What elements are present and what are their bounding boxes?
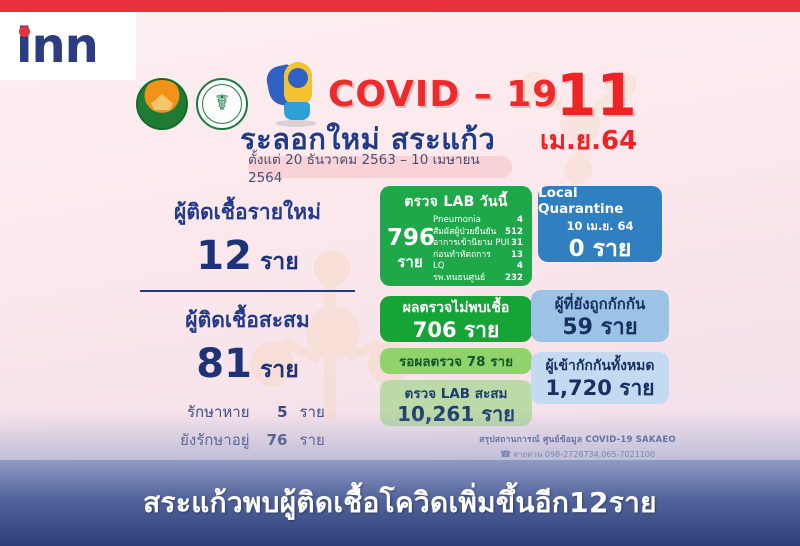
cumulative-cases-value: 81ราย	[140, 341, 355, 388]
province-seal-icon	[136, 78, 188, 130]
red-dot-icon	[19, 26, 30, 37]
local-quarantine-title: Local Quarantine	[538, 185, 662, 217]
still-quarantined-value: 59 ราย	[562, 316, 637, 340]
negative-results-card: ผลตรวจไม่พบเชื้อ 706 ราย	[380, 296, 532, 342]
lab-item-value: 4	[517, 215, 523, 227]
local-quarantine-card: Local Quarantine 10 เม.ย. 64 0 ราย	[538, 186, 662, 262]
lab-item-label: อาการเข้านิยาม PUI	[433, 238, 509, 250]
total-quarantined-card: ผู้เข้ากักกันทั้งหมด 1,720 ราย	[531, 352, 669, 404]
lab-item-value: 512	[505, 227, 523, 239]
covid-title: COVID – 19	[328, 74, 558, 115]
new-cases-label: ผู้ติดเชื้อรายใหม่	[140, 196, 355, 229]
lab-tests-today-title: ตรวจ LAB วันนี้	[387, 191, 525, 213]
negative-results-value: 706 ราย	[413, 319, 500, 341]
lab-item-value: 13	[511, 250, 523, 262]
list-item: ก่อนทำหัตถการ 13	[433, 250, 525, 262]
list-item: รพ.ทนธนศูนย์ 232	[433, 273, 525, 285]
lab-item-value: 31	[511, 238, 523, 250]
lab-tests-today-card: ตรวจ LAB วันนี้ 796 ราย Pneumonia 4 สัมผ…	[380, 186, 532, 286]
date-range-badge: ตั้งแต่ 20 ธันวาคม 2563 – 10 เมษายน 2564	[248, 156, 512, 178]
lab-item-label: รพ.ทนธนศูนย์	[433, 273, 485, 285]
lab-item-label: สัมผัสผู้ป่วยยืนยัน	[433, 227, 496, 239]
new-cases-unit: ราย	[260, 249, 299, 275]
lab-item-label: Pneumonia	[433, 215, 481, 227]
cumulative-cases-unit: ราย	[260, 357, 299, 383]
lab-total-number: 796	[387, 226, 433, 250]
report-month: เม.ย.64	[540, 128, 637, 154]
list-item: อาการเข้านิยาม PUI 31	[433, 238, 525, 250]
lab-item-value: 4	[517, 261, 523, 273]
lab-tests-today-total: 796 ราย	[387, 226, 433, 274]
new-cases-value: 12ราย	[140, 233, 355, 280]
still-quarantined-label: ผู้ที่ยังถูกกักกัน	[555, 292, 645, 316]
lab-breakdown-list: Pneumonia 4 สัมผัสผู้ป่วยยืนยัน 512 อากา…	[433, 215, 525, 285]
caption-bar: สระแก้วพบผู้ติดเชื้อโควิดเพิ่มขึ้นอีก12ร…	[0, 460, 800, 546]
still-quarantined-card: ผู้ที่ยังถูกกักกัน 59 ราย	[531, 290, 669, 342]
report-day: 11	[556, 66, 637, 124]
inn-logo-plate: inn	[0, 12, 136, 80]
stats-divider	[140, 290, 355, 292]
cumulative-cases-number: 81	[196, 341, 252, 387]
local-quarantine-date: 10 เม.ย. 64	[566, 218, 633, 236]
inn-logo-text: inn	[16, 18, 98, 74]
new-cases-number: 12	[196, 233, 252, 279]
local-quarantine-value: 0 ราย	[569, 237, 632, 262]
caption-text: สระแก้วพบผู้ติดเชื้อโควิดเพิ่มขึ้นอีก12ร…	[143, 481, 657, 525]
total-quarantined-value: 1,720 ราย	[545, 377, 654, 400]
top-red-bar	[0, 0, 800, 12]
list-item: สัมผัสผู้ป่วยยืนยัน 512	[433, 227, 525, 239]
cumulative-cases-label: ผู้ติดเชื้อสะสม	[140, 304, 355, 337]
lab-item-label: ก่อนทำหัตถการ	[433, 250, 491, 262]
cumulative-lab-label: ตรวจ LAB สะสม	[405, 382, 508, 404]
negative-results-label: ผลตรวจไม่พบเชื้อ	[403, 297, 510, 319]
lab-item-value: 232	[505, 273, 523, 285]
lab-total-unit: ราย	[387, 250, 433, 274]
pending-results-card: รอผลตรวจ 78 ราย	[380, 348, 532, 374]
fade-strip	[0, 410, 800, 460]
list-item: LQ 4	[433, 261, 525, 273]
infographic-page: inn ☤ COVID – 19 ระลอกใหม่ สระ	[0, 0, 800, 546]
lab-item-label: LQ	[433, 261, 445, 273]
list-item: Pneumonia 4	[433, 215, 525, 227]
total-quarantined-label: ผู้เข้ากักกันทั้งหมด	[545, 355, 654, 377]
organization-seals: ☤	[136, 78, 248, 130]
